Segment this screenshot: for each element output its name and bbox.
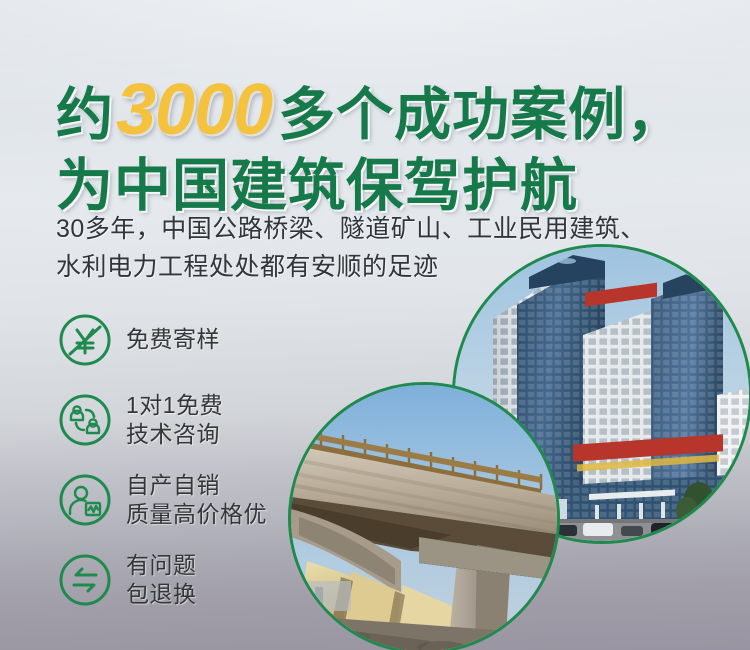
headline-suffix: 多个成功案例， — [278, 83, 684, 147]
feature-label-free-sample: 免费寄样 — [126, 325, 220, 354]
feature-label-consult: 1对1免费 技术咨询 — [126, 391, 223, 450]
one-on-one-consult-icon — [58, 393, 112, 447]
self-produce-sell-icon — [58, 473, 112, 527]
subtitle-line-2: 水利电力工程处处都有安顺的足迹 — [56, 248, 646, 286]
headline: 约3000多个成功案例， 为中国建筑保驾护航 — [56, 74, 684, 215]
headline-number: 3000 — [114, 70, 278, 150]
bridge-photo — [288, 382, 560, 650]
feature-label-self-produce: 自产自销 质量高价格优 — [126, 471, 267, 530]
feature-list: 免费寄样 1对1免费 技术咨询 — [58, 300, 267, 620]
headline-line-2: 为中国建筑保驾护航 — [56, 158, 684, 215]
feature-label-return-exchange: 有问题 包退换 — [126, 551, 197, 610]
feature-item-self-produce: 自产自销 质量高价格优 — [58, 460, 267, 540]
promo-banner: 约3000多个成功案例， 为中国建筑保驾护航 30多年，中国公路桥梁、隧道矿山、… — [0, 0, 750, 650]
headline-prefix: 约 — [56, 83, 114, 147]
headline-line-1: 约3000多个成功案例， — [56, 74, 684, 146]
feature-item-consult: 1对1免费 技术咨询 — [58, 380, 267, 460]
feature-item-return-exchange: 有问题 包退换 — [58, 540, 267, 620]
free-sample-yen-slash-icon — [58, 313, 112, 367]
return-exchange-icon — [58, 553, 112, 607]
subtitle-line-1: 30多年，中国公路桥梁、隧道矿山、工业民用建筑、 — [56, 210, 646, 248]
feature-item-free-sample: 免费寄样 — [58, 300, 267, 380]
subtitle: 30多年，中国公路桥梁、隧道矿山、工业民用建筑、 水利电力工程处处都有安顺的足迹 — [56, 210, 646, 286]
